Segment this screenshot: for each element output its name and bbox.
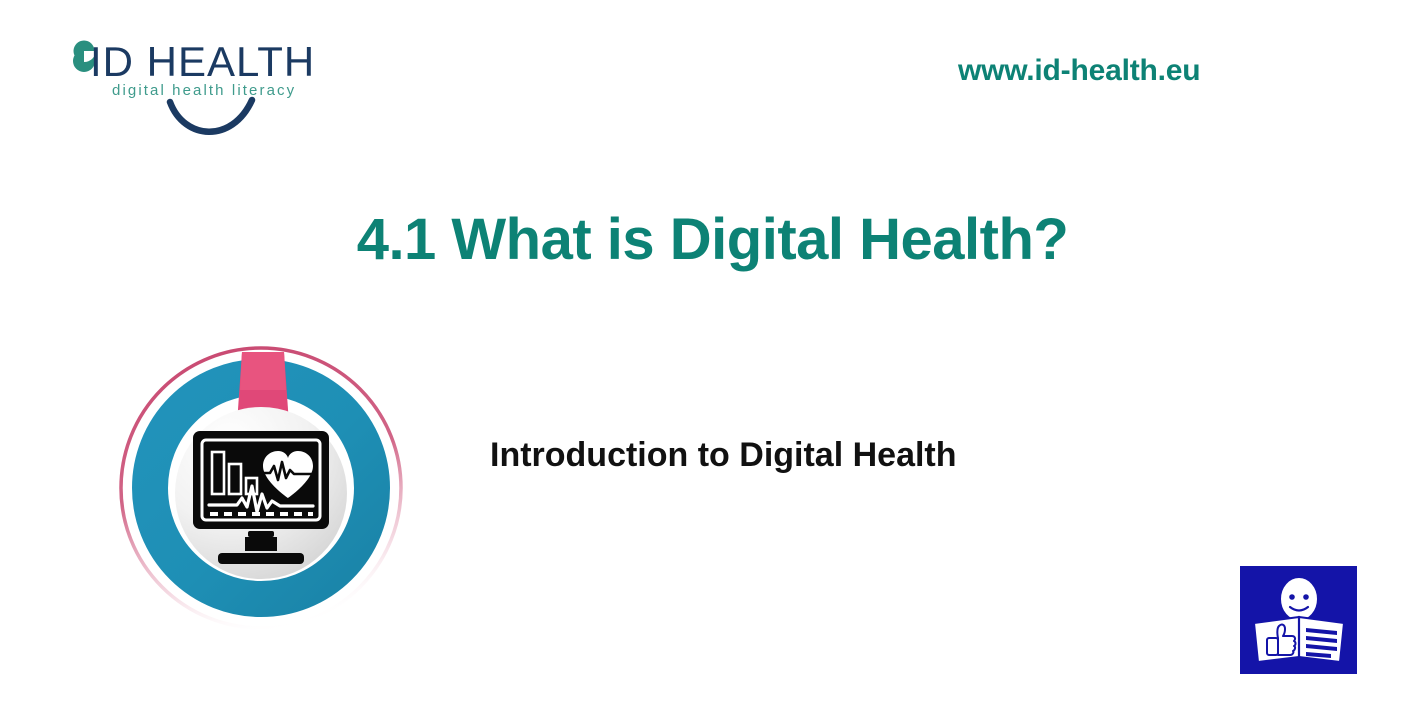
slide-subtitle: Introduction to Digital Health	[490, 436, 957, 475]
website-url[interactable]: www.id-health.eu	[958, 54, 1378, 88]
id-health-logo[interactable]: ID HEALTH digital health literacy	[72, 28, 332, 143]
slide-canvas: ID HEALTH digital health literacy www.id…	[0, 0, 1425, 702]
badge-ribbon-highlight	[240, 352, 286, 390]
logo-wordmark-primary: ID HEALTH	[90, 38, 315, 85]
easy-to-read-logo-icon	[1240, 566, 1357, 674]
easy-read-open-book-icon	[1254, 617, 1344, 662]
logo-swoosh-icon	[170, 100, 252, 132]
easy-read-person-head-icon	[1280, 577, 1318, 621]
health-monitor-badge-icon	[108, 338, 414, 638]
page-title: 4.1 What is Digital Health?	[0, 206, 1425, 273]
logo-tagline: digital health literacy	[112, 82, 296, 99]
